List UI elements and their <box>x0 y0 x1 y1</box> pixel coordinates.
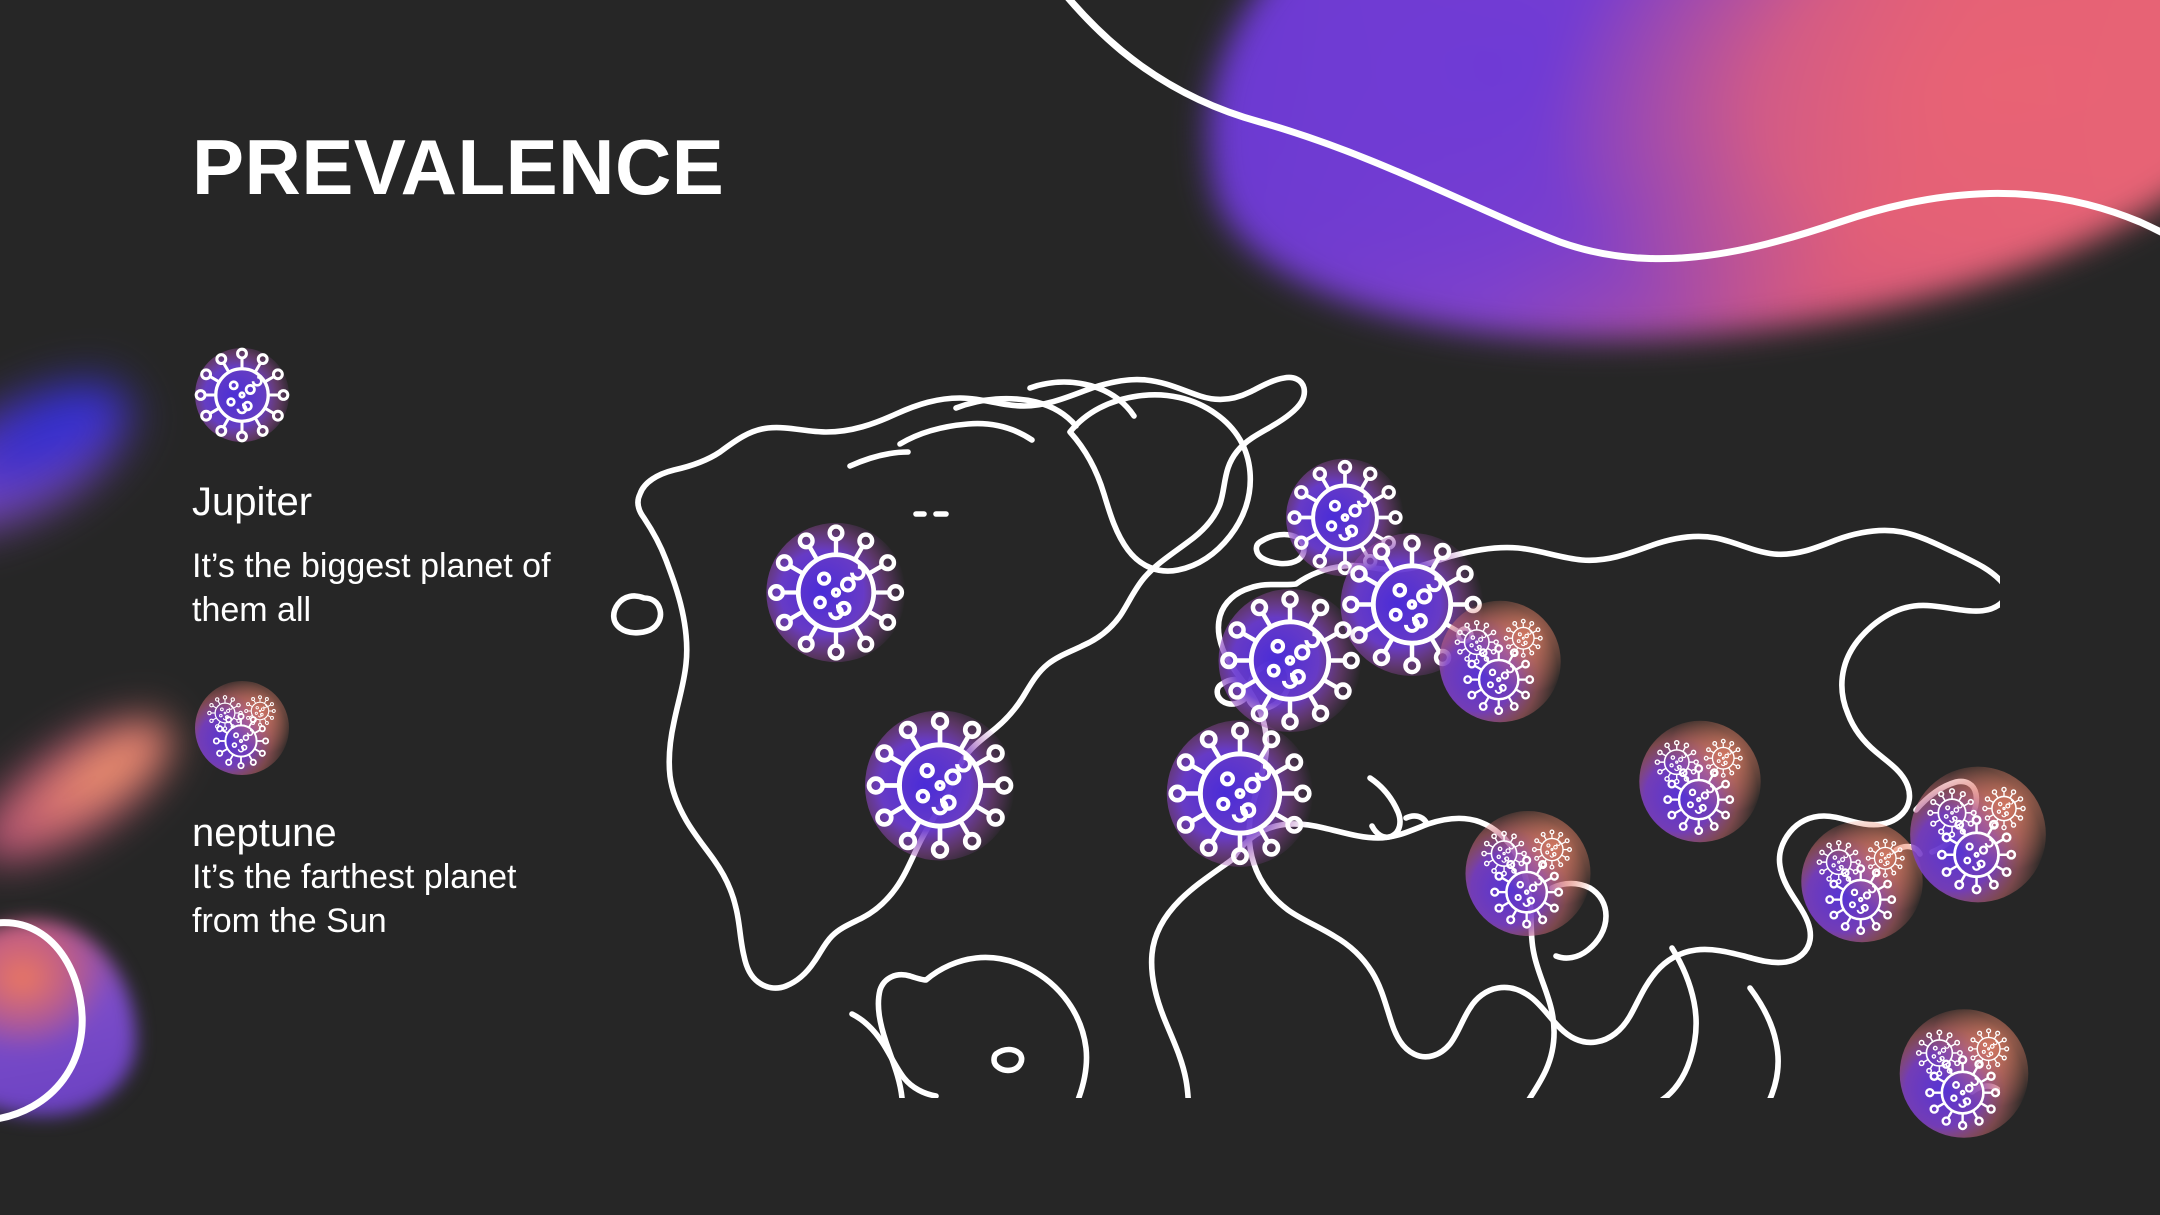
gradient-blob-left-middle <box>0 690 195 892</box>
virus-marker-icon <box>1896 1005 2033 1142</box>
virus-marker-icon <box>1214 584 1366 736</box>
marker-caribbean[interactable] <box>860 705 1020 870</box>
list-item: neptune It’s the farthest planet from th… <box>192 678 592 943</box>
virus-marker-icon <box>1435 597 1564 726</box>
list-item-body: It’s the farthest planet from the Sun <box>192 856 592 943</box>
virus-marker-icon <box>1462 807 1595 940</box>
marker-west-africa[interactable] <box>1162 715 1318 876</box>
virus-marker-icon <box>860 705 1020 865</box>
slide-canvas: PREVALENCE <box>0 0 2160 1215</box>
marker-australia[interactable] <box>1896 1005 2033 1147</box>
virus-marker-icon <box>1162 715 1318 871</box>
marker-north-america[interactable] <box>762 518 910 671</box>
list-item-heading: Jupiter <box>192 481 592 523</box>
list-item-heading: neptune <box>192 812 592 854</box>
virus-marker-icon <box>1635 717 1764 846</box>
marker-middle-east[interactable] <box>1435 597 1564 731</box>
bullet-list: Jupiter It’s the biggest planet of them … <box>192 345 592 943</box>
virus-marker-icon <box>1906 762 2050 906</box>
marker-east-africa[interactable] <box>1462 807 1595 945</box>
world-map <box>600 348 2000 1098</box>
marker-south-asia[interactable] <box>1635 717 1764 851</box>
list-item: Jupiter It’s the biggest planet of them … <box>192 345 592 632</box>
gradient-blob-left-upper <box>0 351 155 567</box>
page-title: PREVALENCE <box>192 128 724 206</box>
virus-cluster-icon <box>192 678 292 778</box>
virus-icon <box>192 345 292 445</box>
list-item-body: It’s the biggest planet of them all <box>192 545 592 632</box>
gradient-blob-left-lower <box>0 920 136 1116</box>
marker-philippines[interactable] <box>1906 762 2050 911</box>
map-marker-layer <box>600 348 2000 1098</box>
virus-marker-icon <box>762 518 910 666</box>
gradient-blob-top-right <box>1170 0 2160 394</box>
